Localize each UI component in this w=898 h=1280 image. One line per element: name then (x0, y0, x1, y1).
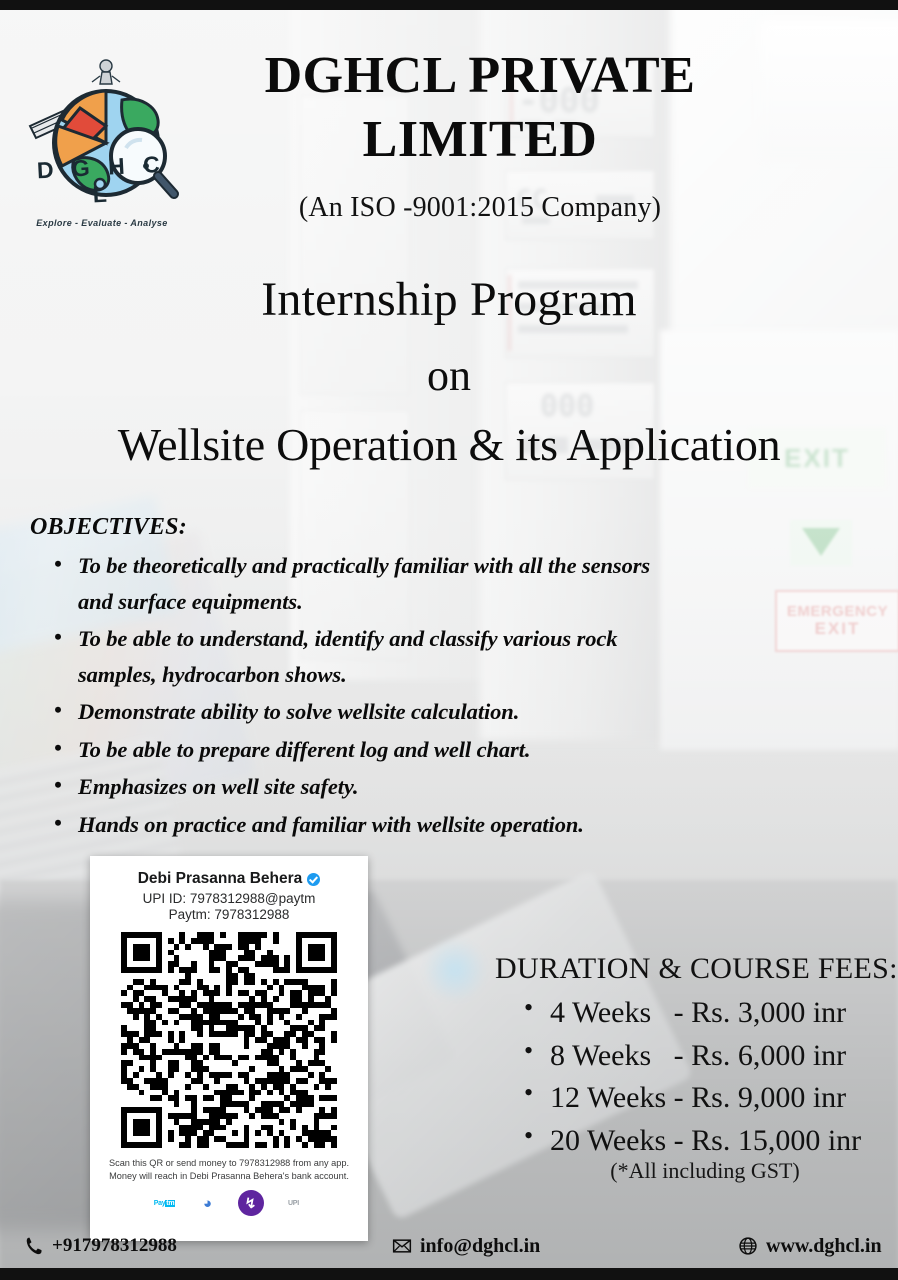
envelope-icon (392, 1236, 412, 1256)
verified-badge-icon (307, 873, 320, 886)
paytm-icon: Paytm (152, 1190, 178, 1216)
contact-footer: +917978312988 info@dghcl.in www.dghcl.in (0, 1224, 898, 1268)
dghcl-logo: D G H C L Explore - Evaluate - Analyse (22, 48, 182, 238)
objectives-heading: OBJECTIVES: (30, 514, 187, 541)
poster: -000 CC 000 EXIT EMERGENCY (0, 0, 898, 1280)
objective-item: To be theoretically and practically fami… (52, 548, 662, 619)
program-title-line2: on (0, 350, 898, 401)
upi-icon: UPI (281, 1190, 307, 1216)
program-title-line1: Internship Program (0, 272, 898, 327)
globe-icon (738, 1236, 758, 1256)
fees-list: 4 Weeks - Rs. 3,000 inr 8 Weeks - Rs. 6,… (520, 992, 890, 1162)
objective-item: Hands on practice and familiar with well… (52, 807, 662, 843)
fees-heading: DURATION & COURSE FEES: (495, 952, 898, 986)
payee-name: Debi Prasanna Behera (138, 870, 303, 888)
upi-qr-card: Debi Prasanna Behera UPI ID: 7978312988@… (90, 856, 368, 1241)
payment-apps-row: Paytm ◕ ↯ UPI (90, 1190, 368, 1216)
objective-item: Demonstrate ability to solve wellsite ca… (52, 694, 662, 730)
qr-code-image (121, 932, 337, 1148)
footer-email[interactable]: info@dghcl.in (392, 1235, 540, 1258)
footer-phone-text: +917978312988 (52, 1235, 177, 1257)
footer-website[interactable]: www.dghcl.in (738, 1235, 882, 1258)
footer-phone[interactable]: +917978312988 (24, 1235, 177, 1257)
payee-name-row: Debi Prasanna Behera (138, 870, 321, 888)
logo-wordmark: D G H C L (21, 150, 184, 212)
fee-item: 4 Weeks - Rs. 3,000 inr (520, 992, 890, 1035)
fee-item: 8 Weeks - Rs. 6,000 inr (520, 1035, 890, 1078)
footer-email-text: info@dghcl.in (420, 1235, 540, 1258)
phonepe-icon: ↯ (238, 1190, 264, 1216)
fees-gst-note: (*All including GST) (520, 1158, 890, 1184)
phone-icon (24, 1236, 44, 1256)
footer-website-text: www.dghcl.in (766, 1235, 882, 1258)
objectives-list: To be theoretically and practically fami… (52, 548, 662, 844)
company-name: DGHCL PRIVATE LIMITED (200, 44, 760, 173)
fee-item: 12 Weeks - Rs. 9,000 inr (520, 1077, 890, 1120)
objective-item: To be able to prepare different log and … (52, 732, 662, 768)
logo-tagline: Explore - Evaluate - Analyse (22, 218, 182, 228)
objective-item: Emphasizes on well site safety. (52, 769, 662, 805)
paytm-number: Paytm: 7978312988 (90, 907, 368, 922)
poster-content: D G H C L Explore - Evaluate - Analyse D… (0, 0, 898, 1280)
bhim-icon: ◕ (195, 1190, 221, 1216)
objective-item: To be able to understand, identify and c… (52, 621, 662, 692)
program-title-line3: Wellsite Operation & its Application (0, 418, 898, 471)
fee-item: 20 Weeks - Rs. 15,000 inr (520, 1120, 890, 1163)
upi-id: UPI ID: 7978312988@paytm (90, 891, 368, 906)
qr-scan-instructions: Scan this QR or send money to 7978312988… (90, 1157, 368, 1182)
iso-certification-line: (An ISO -9001:2015 Company) (200, 192, 760, 224)
